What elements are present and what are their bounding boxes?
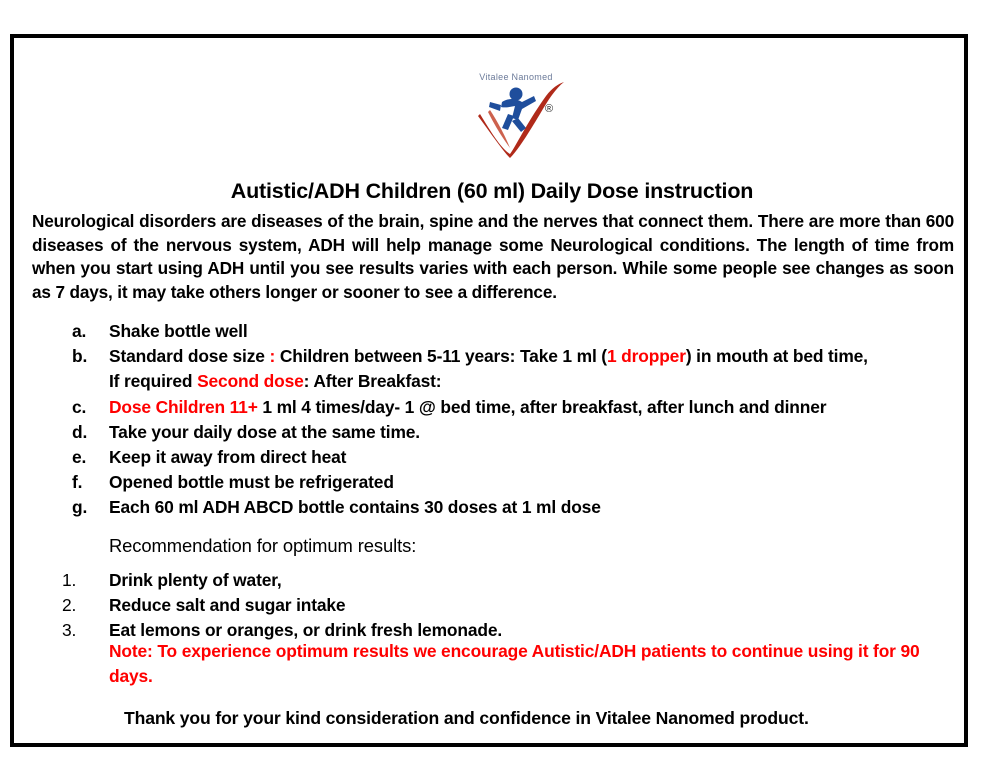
text-segment: Keep it away from direct heat xyxy=(109,447,346,467)
list-item-text: Standard dose size : Children between 5-… xyxy=(109,344,972,369)
text-segment: If required xyxy=(109,371,197,391)
list-item-text: Shake bottle well xyxy=(109,319,972,344)
logo-graphic: Vitalee Nanomed ® xyxy=(460,58,572,162)
document-border-frame: Vitalee Nanomed ® Autistic/ADH Children … xyxy=(10,34,968,747)
text-segment-highlight: Dose Children 11+ xyxy=(109,397,258,417)
list-item-text: Opened bottle must be refrigerated xyxy=(109,470,972,495)
text-segment-highlight: Second dose xyxy=(197,371,304,391)
text-segment: Shake bottle well xyxy=(109,321,248,341)
list-item: 2. Reduce salt and sugar intake xyxy=(14,593,972,618)
list-item-text: Eat lemons or oranges, or drink fresh le… xyxy=(109,620,502,640)
note-text: Note: To experience optimum results we e… xyxy=(109,639,954,688)
registered-trademark-icon: ® xyxy=(545,103,553,115)
list-item: b. Standard dose size : Children between… xyxy=(14,344,972,394)
list-item: 1. Drink plenty of water, xyxy=(14,568,972,593)
list-item-text: Each 60 ml ADH ABCD bottle contains 30 d… xyxy=(109,495,972,520)
text-segment-highlight: 1 dropper xyxy=(607,346,686,366)
recommendation-heading: Recommendation for optimum results: xyxy=(109,535,416,557)
list-item: c. Dose Children 11+ 1 ml 4 times/day- 1… xyxy=(14,395,972,420)
list-item: g. Each 60 ml ADH ABCD bottle contains 3… xyxy=(14,495,972,520)
text-segment: 1 ml 4 times/day- 1 @ bed time, after br… xyxy=(258,397,827,417)
list-marker: 3. xyxy=(62,618,92,643)
list-item: e. Keep it away from direct heat xyxy=(14,445,972,470)
recommendation-list: 1. Drink plenty of water, 2. Reduce salt… xyxy=(14,568,972,644)
list-item-text: Dose Children 11+ 1 ml 4 times/day- 1 @ … xyxy=(109,395,972,420)
list-item-text: Reduce salt and sugar intake xyxy=(109,595,345,615)
instruction-list: a. Shake bottle well b. Standard dose si… xyxy=(14,319,972,521)
list-marker: 2. xyxy=(62,593,92,618)
text-segment: Take your daily dose at the same time. xyxy=(109,422,420,442)
list-marker: a. xyxy=(72,319,100,344)
closing-text: Thank you for your kind consideration an… xyxy=(124,708,924,729)
list-item: a. Shake bottle well xyxy=(14,319,972,344)
text-segment: ) in mouth at bed time, xyxy=(686,346,868,366)
list-item-text: Take your daily dose at the same time. xyxy=(109,420,972,445)
logo-figure-head xyxy=(510,88,523,101)
text-segment: Each 60 ml ADH ABCD bottle contains 30 d… xyxy=(109,497,601,517)
list-item-text: Drink plenty of water, xyxy=(109,570,282,590)
list-marker: c. xyxy=(72,395,100,420)
document-page: Vitalee Nanomed ® Autistic/ADH Children … xyxy=(0,0,994,774)
intro-paragraph: Neurological disorders are diseases of t… xyxy=(32,210,954,304)
list-item: d. Take your daily dose at the same time… xyxy=(14,420,972,445)
page-title: Autistic/ADH Children (60 ml) Daily Dose… xyxy=(32,179,952,204)
list-marker: g. xyxy=(72,495,100,520)
list-item-text: Keep it away from direct heat xyxy=(109,445,972,470)
text-segment: Children between 5-11 years: Take 1 ml ( xyxy=(275,346,607,366)
text-segment: Standard dose size xyxy=(109,346,269,366)
text-segment: : After Breakfast: xyxy=(304,371,442,391)
list-marker: d. xyxy=(72,420,100,445)
list-marker: b. xyxy=(72,344,100,369)
list-marker: 1. xyxy=(62,568,92,593)
list-item: f. Opened bottle must be refrigerated xyxy=(14,470,972,495)
logo-brand-text: Vitalee Nanomed xyxy=(479,72,552,82)
list-item-text-continued: If required Second dose: After Breakfast… xyxy=(109,369,972,394)
document-content: Vitalee Nanomed ® Autistic/ADH Children … xyxy=(14,38,964,743)
list-marker: f. xyxy=(72,470,100,495)
text-segment: Opened bottle must be refrigerated xyxy=(109,472,394,492)
list-marker: e. xyxy=(72,445,100,470)
vitalee-nanomed-logo: Vitalee Nanomed ® xyxy=(460,58,572,162)
